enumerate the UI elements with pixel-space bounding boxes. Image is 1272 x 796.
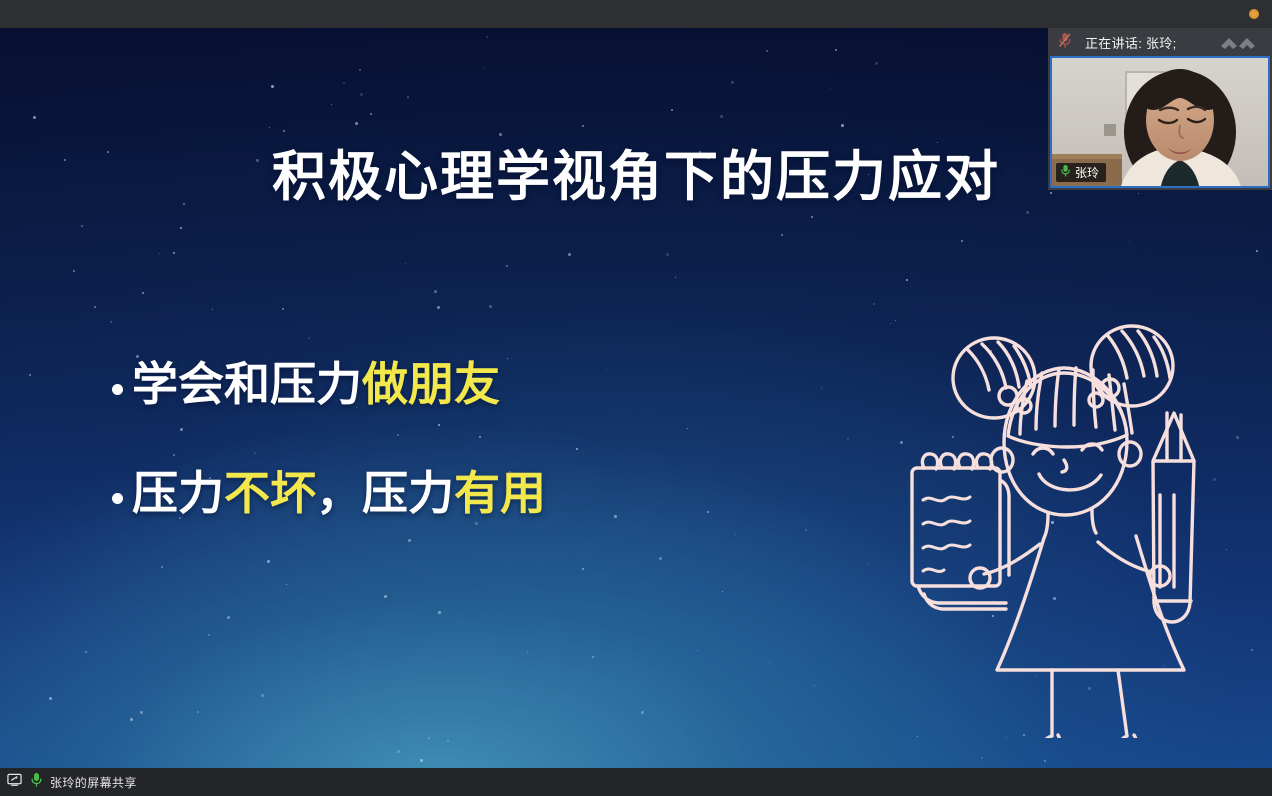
slide-bullet-text: 压力不坏，压力有用 bbox=[132, 467, 546, 520]
microphone-icon[interactable] bbox=[30, 772, 43, 792]
bullet-highlight-text: 有用 bbox=[454, 467, 546, 519]
share-bar-label: 张玲的屏幕共享 bbox=[50, 774, 137, 791]
participant-microphone-icon bbox=[1060, 164, 1071, 182]
top-system-bar bbox=[0, 0, 1272, 28]
active-speaker-video-tile[interactable]: 正在讲话: 张玲; bbox=[1048, 28, 1272, 190]
share-bar-content[interactable]: 张玲的屏幕共享 bbox=[0, 768, 137, 796]
screen-share-icon[interactable] bbox=[7, 772, 22, 792]
slide-bullet-list: 学会和压力做朋友压力不坏，压力有用 bbox=[112, 358, 812, 520]
screen-share-status-bar[interactable]: 张玲的屏幕共享 bbox=[0, 768, 1272, 796]
video-tile-header[interactable]: 正在讲话: 张玲; bbox=[1048, 28, 1272, 56]
bullet-plain-text: ，压力 bbox=[316, 467, 454, 519]
bullet-plain-text: 压力 bbox=[132, 467, 224, 519]
slide-bullet-item: 学会和压力做朋友 bbox=[112, 358, 812, 411]
video-frame[interactable]: 张玲 bbox=[1050, 56, 1270, 188]
speaking-microphone-icon bbox=[1058, 32, 1072, 53]
girl-with-notepad-and-pencil-illustration bbox=[896, 318, 1226, 738]
slide-bullet-item: 压力不坏，压力有用 bbox=[112, 467, 812, 520]
bullet-dot-icon bbox=[112, 384, 123, 395]
bullet-highlight-text: 不坏 bbox=[224, 467, 316, 519]
bullet-plain-text: 学会和压力 bbox=[132, 358, 362, 410]
bullet-highlight-text: 做朋友 bbox=[362, 358, 500, 410]
participant-name-label: 张玲 bbox=[1075, 164, 1099, 181]
status-indicator-dot bbox=[1249, 9, 1259, 19]
bullet-dot-icon bbox=[112, 493, 123, 504]
speaking-status-label: 正在讲话: 张玲; bbox=[1085, 33, 1177, 52]
collapse-chevron-icon[interactable] bbox=[1218, 35, 1262, 50]
slide-bullet-text: 学会和压力做朋友 bbox=[132, 358, 500, 411]
participant-name-tag: 张玲 bbox=[1056, 163, 1106, 182]
